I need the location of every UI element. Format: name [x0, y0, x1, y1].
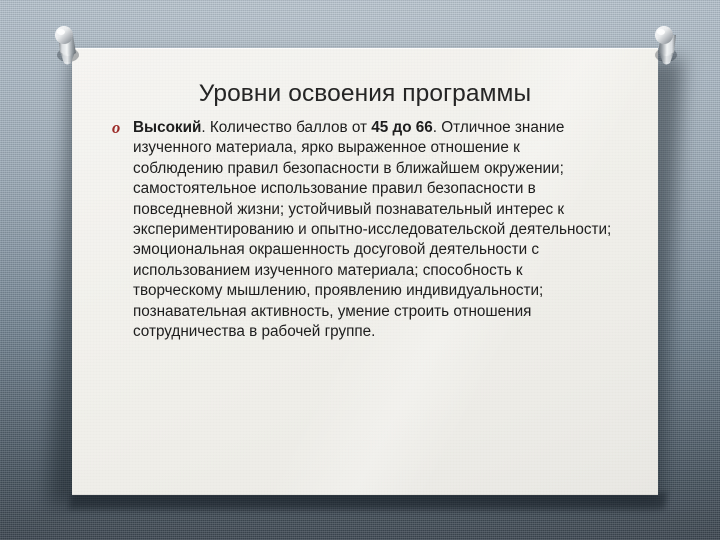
bullet-text-run: . Количество баллов от — [201, 119, 371, 136]
pin-top-right — [650, 22, 690, 68]
thumbtack-icon — [46, 22, 86, 68]
paper-sheet: Уровни освоения программы o Высокий. Кол… — [72, 48, 658, 495]
bullet-text-run: . Отличное знание изученного материала, … — [133, 119, 611, 340]
list-item: o Высокий. Количество баллов от 45 до 66… — [112, 118, 614, 342]
slide-content: Уровни освоения программы o Высокий. Кол… — [72, 48, 658, 495]
thumbtack-icon — [650, 22, 690, 68]
pin-top-left — [46, 22, 86, 68]
bullet-text: Высокий. Количество баллов от 45 до 66. … — [133, 118, 614, 342]
slide-canvas: Уровни освоения программы o Высокий. Кол… — [0, 0, 720, 540]
bullet-text-emphasis: 45 до 66 — [371, 119, 433, 136]
page-title: Уровни освоения программы — [86, 79, 644, 109]
bullet-marker-icon: o — [112, 118, 133, 138]
bullet-text-emphasis: Высокий — [133, 119, 201, 136]
